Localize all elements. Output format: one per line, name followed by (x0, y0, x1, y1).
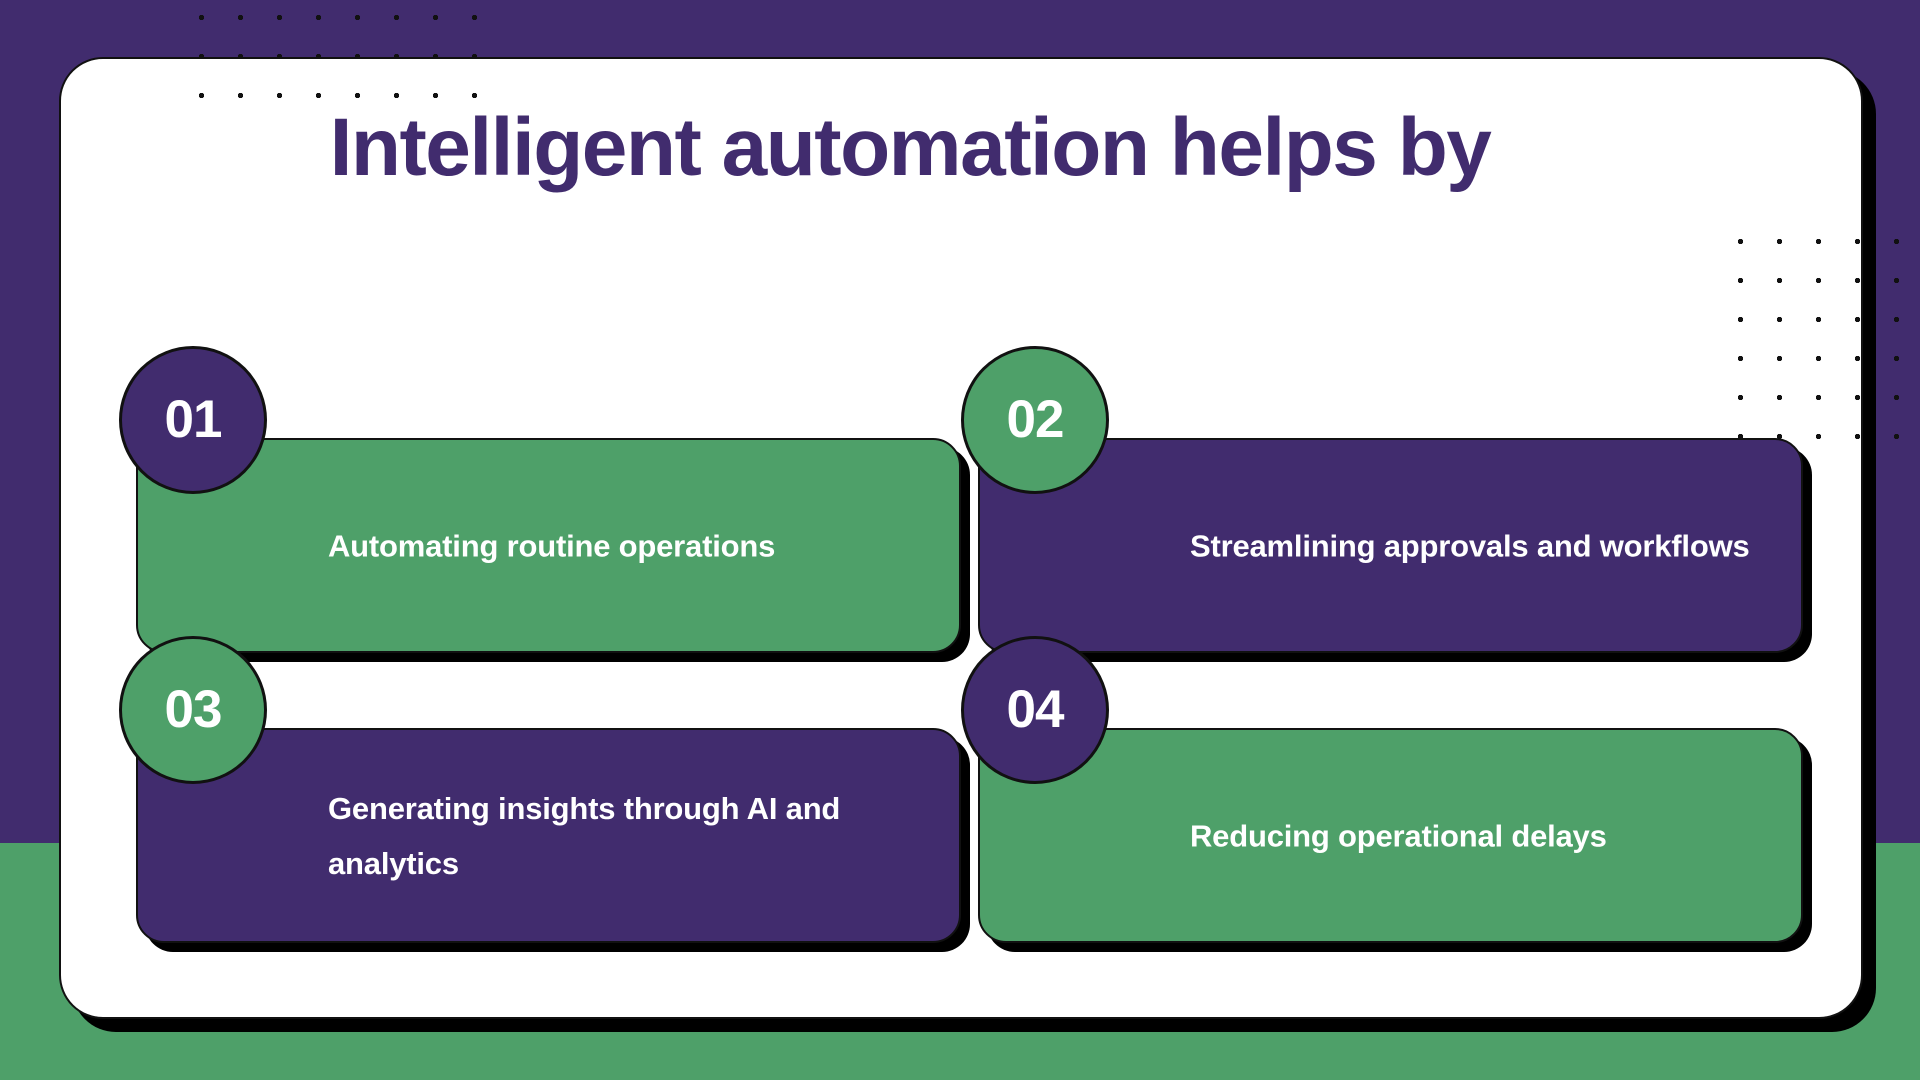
item-text: Streamlining approvals and workflows (1190, 518, 1767, 573)
item-number-label: 04 (1007, 683, 1064, 736)
list-item[interactable]: Generating insights through AI and analy… (136, 728, 961, 943)
item-number-badge: 04 (961, 636, 1109, 784)
item-box: Streamlining approvals and workflows (978, 438, 1803, 653)
items-grid: Automating routine operations 01 Streaml… (0, 0, 1920, 1080)
item-number-badge: 03 (119, 636, 267, 784)
item-number-label: 01 (165, 393, 222, 446)
slide-canvas: Intelligent automation helps by Automati… (0, 0, 1920, 1080)
item-number-label: 02 (1007, 393, 1064, 446)
item-text: Reducing operational delays (1190, 808, 1767, 863)
item-box: Automating routine operations (136, 438, 961, 653)
item-number-label: 03 (165, 683, 222, 736)
item-box: Generating insights through AI and analy… (136, 728, 961, 943)
item-text: Generating insights through AI and analy… (328, 780, 925, 890)
item-text: Automating routine operations (328, 518, 925, 573)
list-item[interactable]: Streamlining approvals and workflows 02 (978, 438, 1803, 653)
item-number-badge: 01 (119, 346, 267, 494)
list-item[interactable]: Automating routine operations 01 (136, 438, 961, 653)
item-number-badge: 02 (961, 346, 1109, 494)
item-box: Reducing operational delays (978, 728, 1803, 943)
list-item[interactable]: Reducing operational delays 04 (978, 728, 1803, 943)
